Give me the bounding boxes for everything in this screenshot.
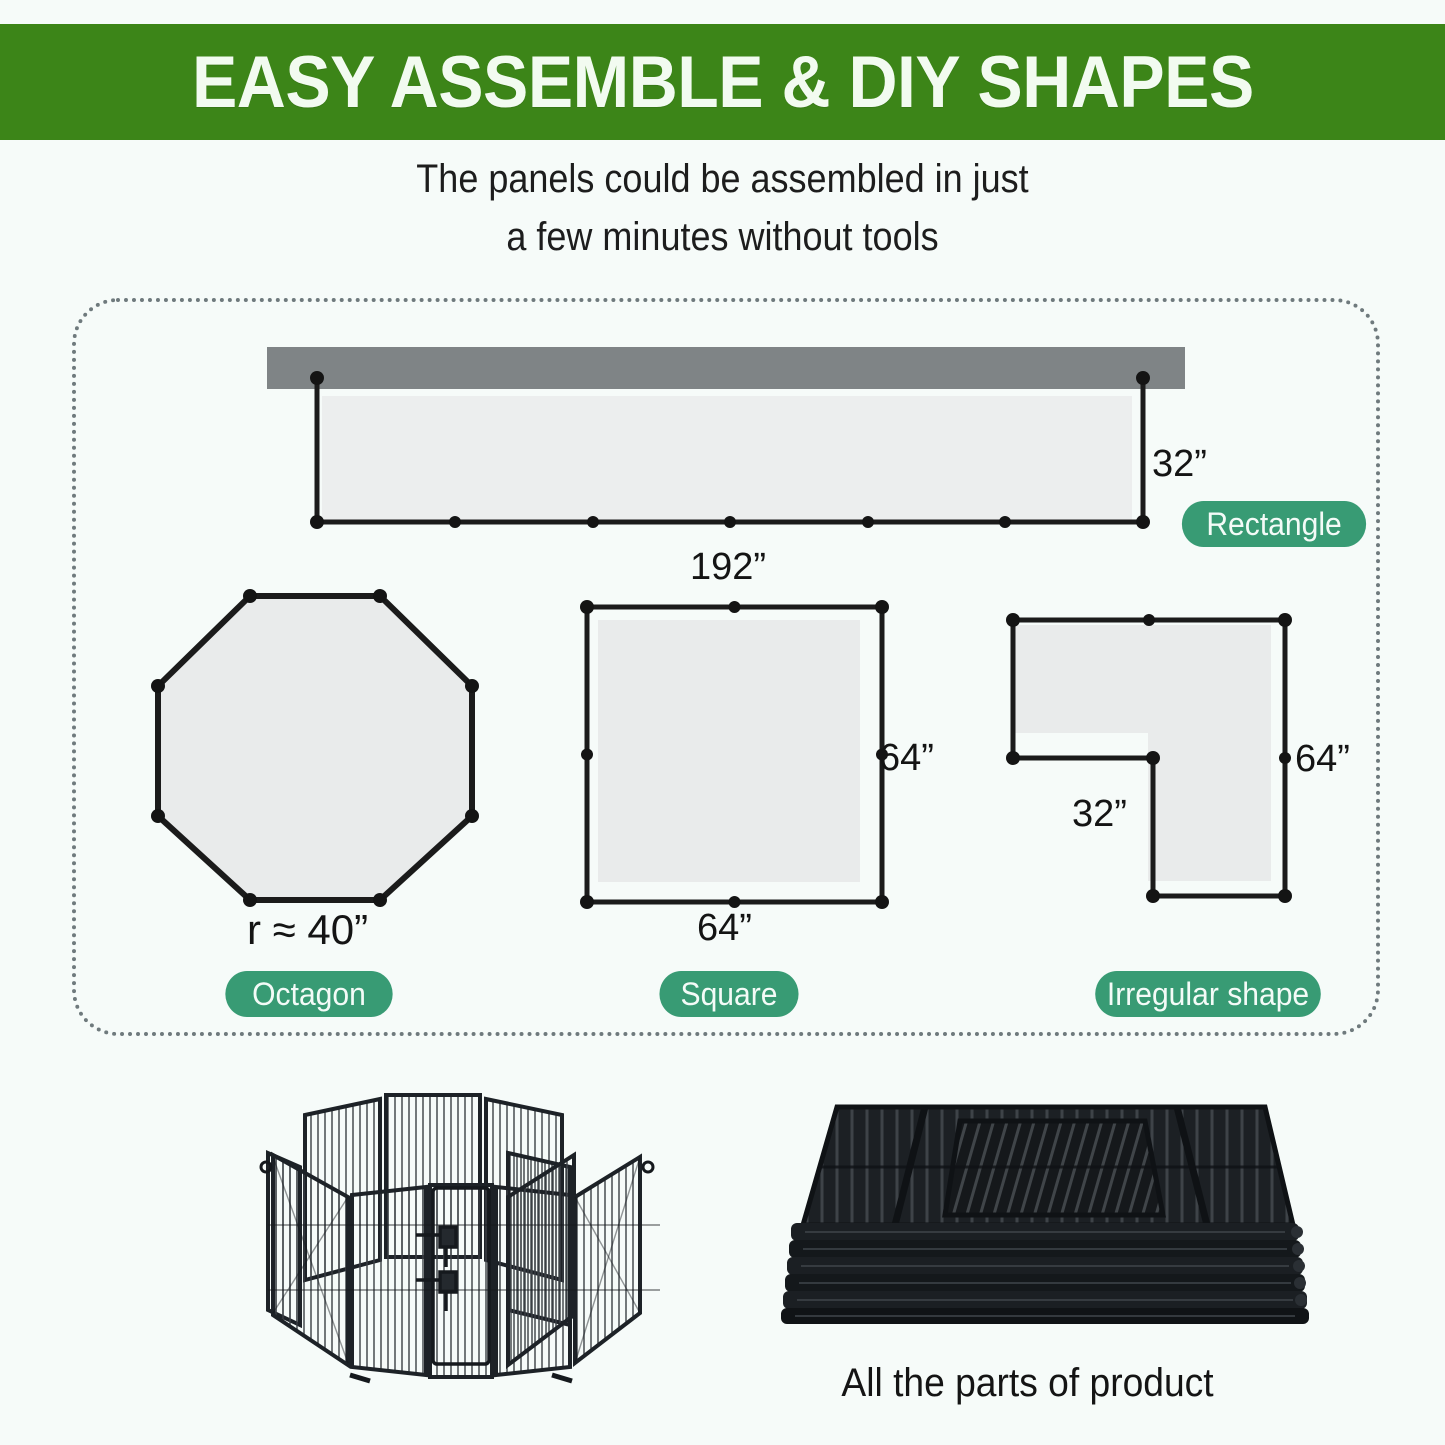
parts-caption: All the parts of product xyxy=(765,1357,1290,1409)
folded-panels-image xyxy=(745,1085,1310,1335)
assembled-playpen-image xyxy=(240,1075,690,1420)
page-title: EASY ASSEMBLE & DIY SHAPES xyxy=(192,41,1254,124)
square-outline xyxy=(575,595,905,925)
square-width-label: 64” xyxy=(697,906,752,950)
pill-square: Square xyxy=(659,971,798,1017)
octagon-outline xyxy=(150,588,480,908)
subtitle-line-2: a few minutes without tools xyxy=(72,208,1373,266)
pill-rectangle: Rectangle xyxy=(1182,501,1366,547)
rectangle-outline xyxy=(285,370,1175,550)
irregular-outline xyxy=(985,598,1325,928)
rectangle-height-label: 32” xyxy=(1152,442,1207,486)
subtitle-line-1: The panels could be assembled in just xyxy=(72,150,1373,208)
header-band: EASY ASSEMBLE & DIY SHAPES xyxy=(0,24,1445,140)
octagon-radius-label: r ≈ 40” xyxy=(247,908,368,952)
irregular-notch-label: 32” xyxy=(1072,792,1127,836)
subtitle: The panels could be assembled in just a … xyxy=(72,150,1373,266)
pill-octagon: Octagon xyxy=(225,971,392,1017)
rectangle-width-label: 192” xyxy=(690,545,766,589)
page-root: EASY ASSEMBLE & DIY SHAPES The panels co… xyxy=(0,0,1445,1445)
pill-irregular-shape: Irregular shape xyxy=(1095,971,1321,1017)
square-height-label: 64” xyxy=(879,736,934,780)
irregular-height-label: 64” xyxy=(1295,737,1350,781)
